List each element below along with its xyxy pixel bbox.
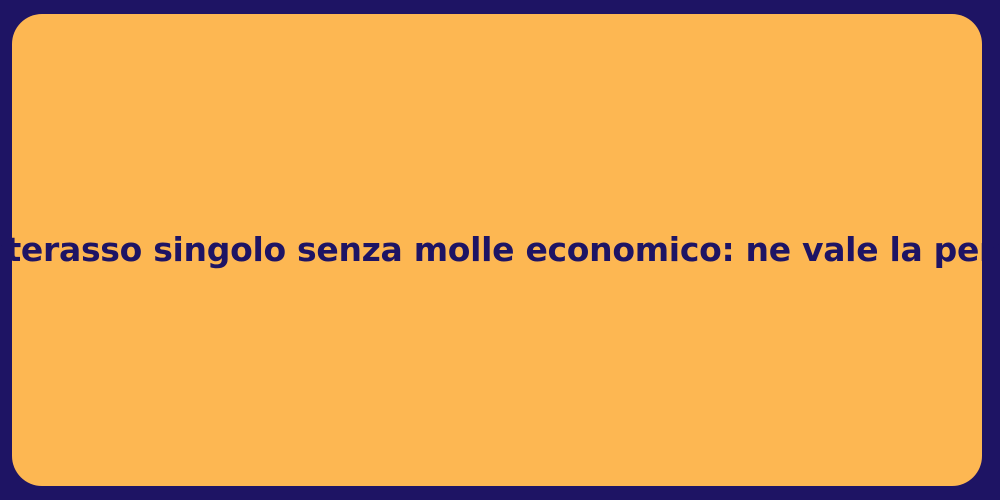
banner-heading: Materasso singolo senza molle economico:… <box>0 229 1000 270</box>
banner-panel: Materasso singolo senza molle economico:… <box>12 14 982 486</box>
banner-frame: Materasso singolo senza molle economico:… <box>0 0 1000 500</box>
